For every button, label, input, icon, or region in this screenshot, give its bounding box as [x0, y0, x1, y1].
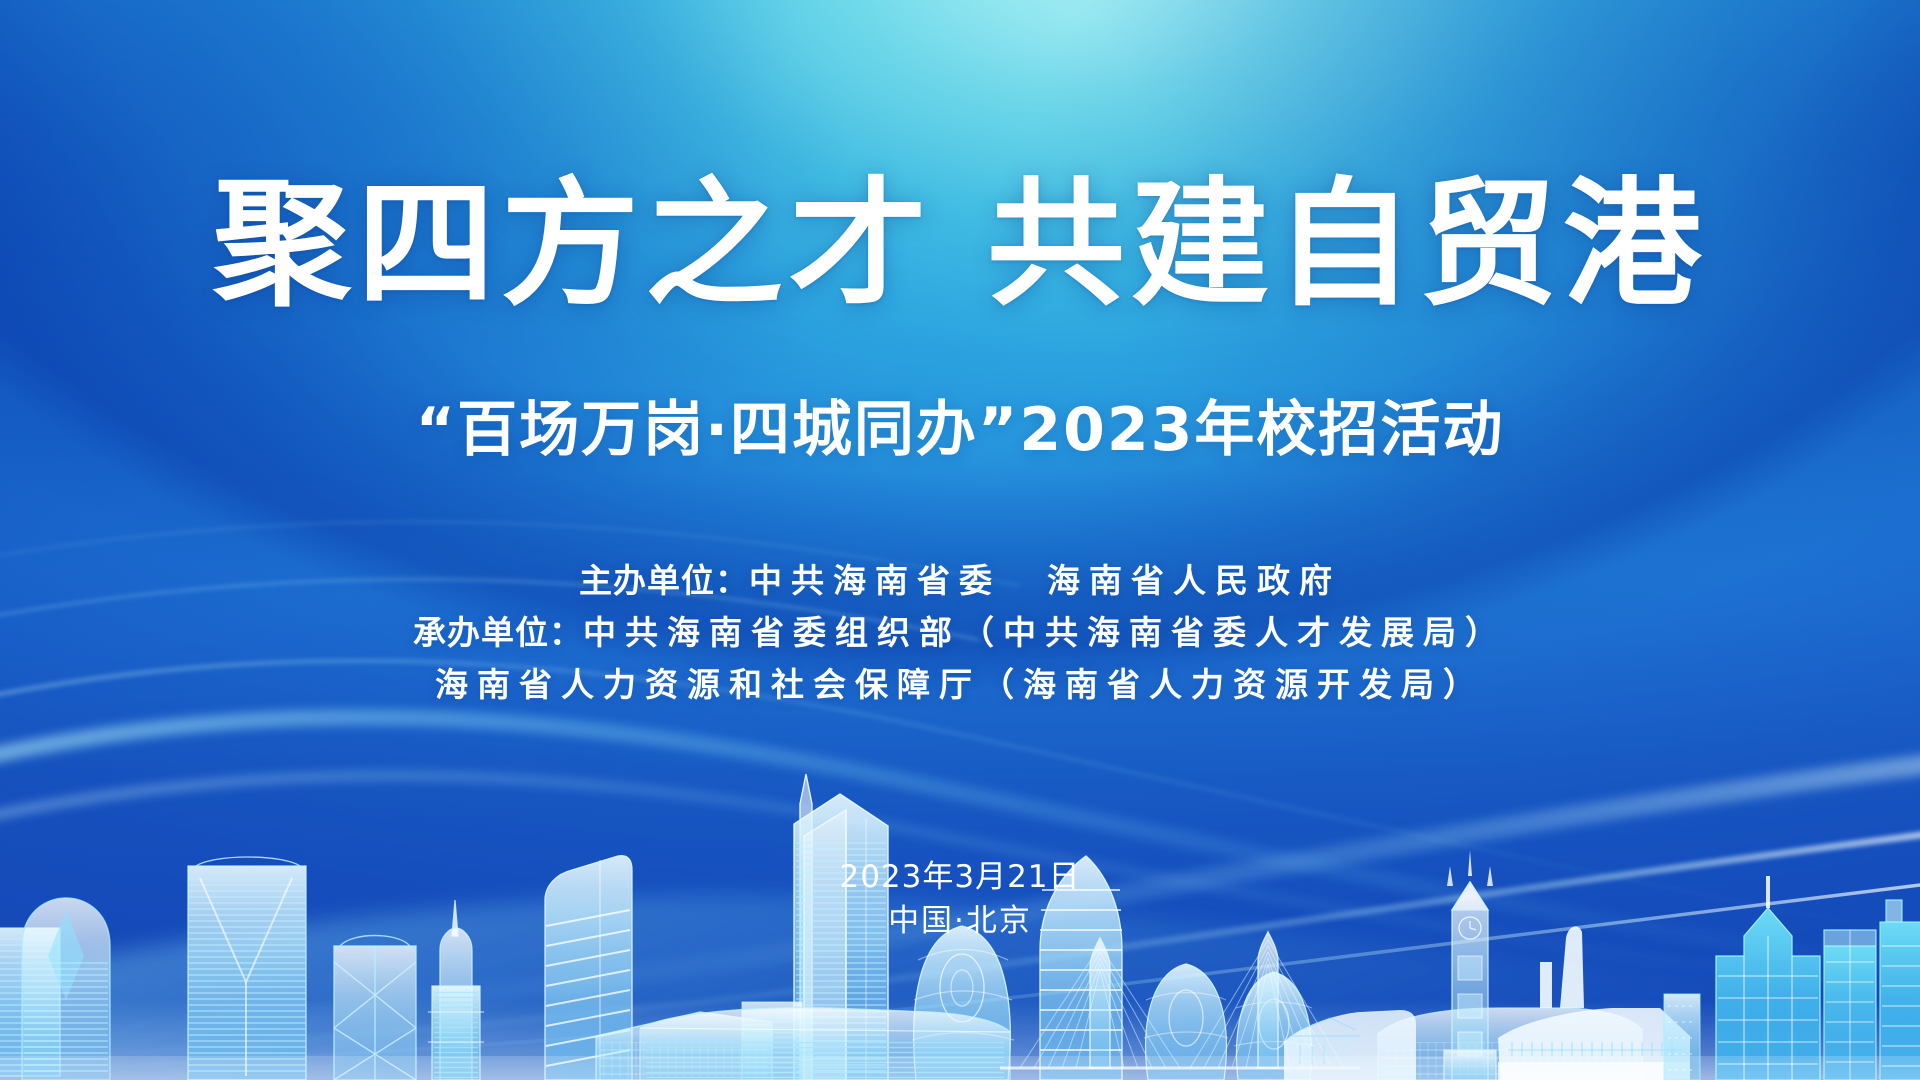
host-name-1: 中共海南省委: [749, 561, 1001, 600]
organizer-label: 承办单位：: [413, 613, 583, 652]
host-line: 主办单位：中共海南省委海南省人民政府: [0, 555, 1920, 607]
organizer-block: 主办单位：中共海南省委海南省人民政府 承办单位：中共海南省委组织部（中共海南省委…: [0, 555, 1920, 711]
poster-content: 聚四方之才 共建自贸港 “百场万岗·四城同办”2023年校招活动 主办单位：中共…: [0, 0, 1920, 1080]
host-label: 主办单位：: [579, 561, 749, 600]
organizer-name-2: 海南省人力资源和社会保障厅（海南省人力资源开发局）: [435, 665, 1485, 704]
organizer-line-1: 承办单位：中共海南省委组织部（中共海南省委人才发展局）: [0, 607, 1920, 659]
poster-canvas: 聚四方之才 共建自贸港 “百场万岗·四城同办”2023年校招活动 主办单位：中共…: [0, 0, 1920, 1080]
host-name-2: 海南省人民政府: [1047, 561, 1341, 600]
organizer-name-1: 中共海南省委组织部（中共海南省委人才发展局）: [583, 613, 1507, 652]
event-date-block: 2023年3月21日 中国·北京: [0, 855, 1920, 943]
event-location: 中国·北京: [0, 899, 1920, 943]
page-title: 聚四方之才 共建自贸港: [0, 176, 1920, 314]
poster-subtitle: “百场万岗·四城同办”2023年校招活动: [0, 400, 1920, 460]
organizer-line-2: 海南省人力资源和社会保障厅（海南省人力资源开发局）: [0, 659, 1920, 711]
event-date: 2023年3月21日: [0, 855, 1920, 899]
